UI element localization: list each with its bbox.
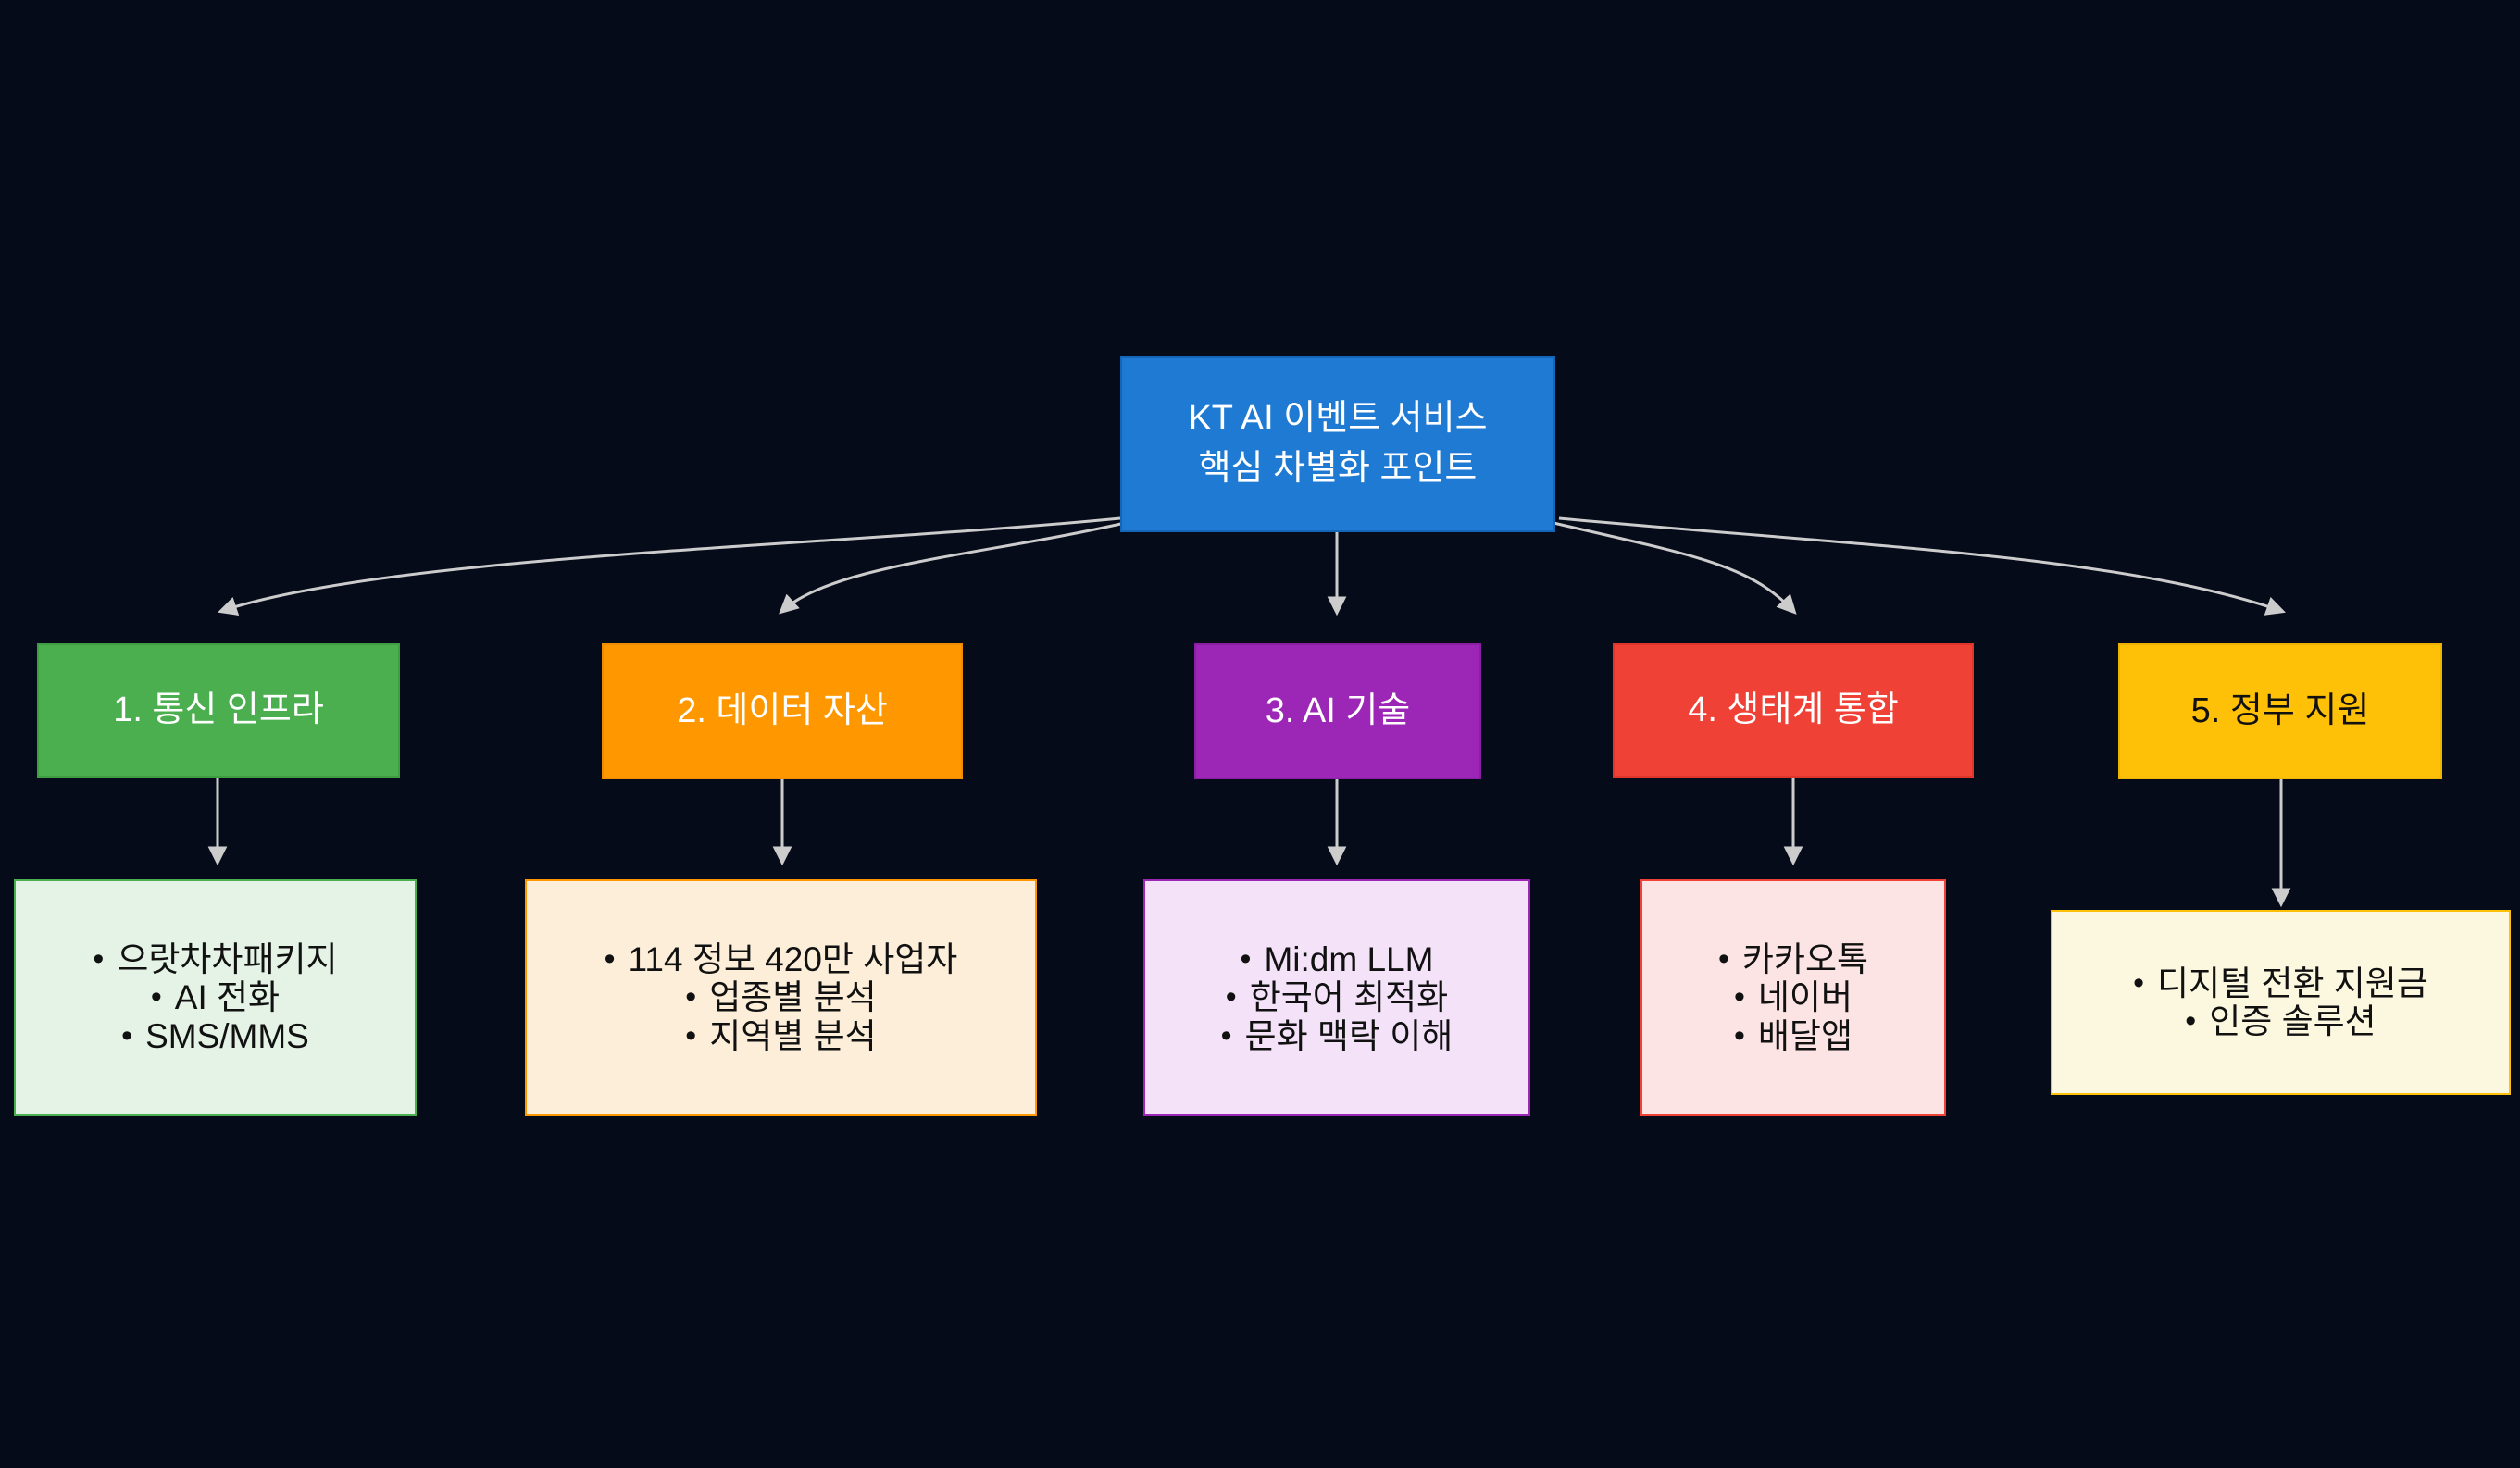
root-title-line-1: KT AI 이벤트 서비스 <box>1188 394 1487 444</box>
leaf-3-list: Mi:dm LLM 한국어 최적화 문화 맥락 이해 <box>1221 940 1453 1055</box>
list-item: 문화 맥락 이해 <box>1221 1017 1453 1055</box>
node-leaf-4[interactable]: 카카오톡 네이버 배달앱 <box>1640 879 1946 1116</box>
list-item: 지역별 분석 <box>605 1017 958 1055</box>
leaf-5-list: 디지털 전환 지원금 인증 솔루션 <box>2133 964 2428 1041</box>
leaf-4-list: 카카오톡 네이버 배달앱 <box>1718 940 1868 1055</box>
node-category-4[interactable]: 4. 생태계 통합 <box>1613 643 1974 778</box>
node-category-1[interactable]: 1. 통신 인프라 <box>37 643 400 778</box>
node-leaf-5[interactable]: 디지털 전환 지원금 인증 솔루션 <box>2051 910 2511 1095</box>
list-item: 업종별 분석 <box>605 978 958 1016</box>
leaf-2-list: 114 정보 420만 사업자 업종별 분석 지역별 분석 <box>605 940 958 1055</box>
list-item: 으랏차차패키지 <box>93 940 337 978</box>
diagram-canvas: KT AI 이벤트 서비스 핵심 차별화 포인트 1. 통신 인프라 으랏차차패… <box>0 0 2520 1468</box>
category-4-label: 4. 생태계 통합 <box>1688 687 1899 734</box>
edge-root-to-branch-2 <box>782 523 1125 611</box>
list-item: SMS/MMS <box>93 1017 337 1055</box>
leaf-1-list: 으랏차차패키지 AI 전화 SMS/MMS <box>93 940 337 1055</box>
list-item: 네이버 <box>1718 978 1868 1016</box>
list-item: AI 전화 <box>93 978 337 1016</box>
list-item: 카카오톡 <box>1718 940 1868 978</box>
node-category-2[interactable]: 2. 데이터 자산 <box>602 643 963 779</box>
node-leaf-1[interactable]: 으랏차차패키지 AI 전화 SMS/MMS <box>14 879 417 1116</box>
list-item: 디지털 전환 지원금 <box>2133 964 2428 1002</box>
category-5-label: 5. 정부 지원 <box>2191 688 2370 735</box>
node-root[interactable]: KT AI 이벤트 서비스 핵심 차별화 포인트 <box>1120 356 1555 532</box>
category-3-label: 3. AI 기술 <box>1266 688 1411 735</box>
list-item: 114 정보 420만 사업자 <box>605 940 958 978</box>
list-item: Mi:dm LLM <box>1221 940 1453 978</box>
edge-root-to-branch-1 <box>222 518 1120 611</box>
list-item: 배달앱 <box>1718 1017 1868 1055</box>
edge-root-to-branch-5 <box>1559 518 2281 611</box>
node-category-3[interactable]: 3. AI 기술 <box>1194 643 1481 779</box>
node-leaf-2[interactable]: 114 정보 420만 사업자 업종별 분석 지역별 분석 <box>525 879 1037 1116</box>
node-leaf-3[interactable]: Mi:dm LLM 한국어 최적화 문화 맥락 이해 <box>1143 879 1530 1116</box>
category-1-label: 1. 통신 인프라 <box>113 687 324 734</box>
list-item: 한국어 최적화 <box>1221 978 1453 1016</box>
node-category-5[interactable]: 5. 정부 지원 <box>2118 643 2442 779</box>
list-item: 인증 솔루션 <box>2133 1002 2428 1040</box>
root-title-line-2: 핵심 차별화 포인트 <box>1199 444 1478 494</box>
category-2-label: 2. 데이터 자산 <box>677 688 888 735</box>
edge-root-to-branch-4 <box>1553 523 1793 611</box>
